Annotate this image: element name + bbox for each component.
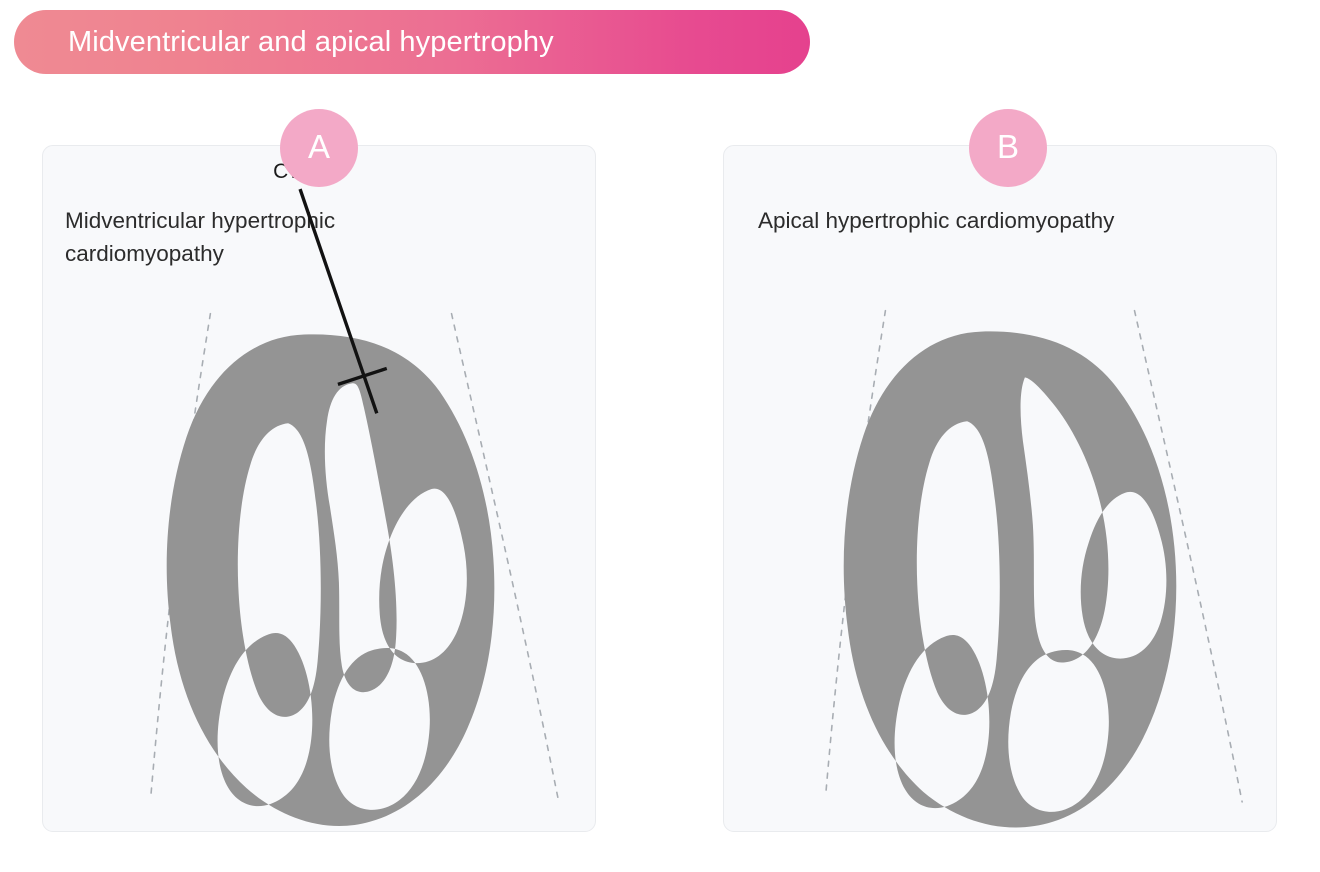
guide-line-left — [151, 314, 211, 799]
apical-hcm-heart-cross-section — [724, 146, 1276, 831]
page-title-banner: Midventricular and apical hypertrophy — [14, 10, 810, 74]
panel-b-badge: B — [969, 109, 1047, 187]
page-title: Midventricular and apical hypertrophy — [14, 26, 554, 59]
panel-a-badge: A — [280, 109, 358, 187]
panel-b-badge-letter: B — [997, 130, 1019, 166]
guide-line-right — [452, 314, 560, 804]
myocardium-shape — [167, 334, 495, 826]
guide-line-right — [1135, 311, 1243, 802]
panel-b-caption: Apical hypertrophic cardiomyopathy — [758, 204, 1258, 237]
panel-a-badge-letter: A — [308, 130, 330, 166]
panel-a-caption: Midventricular hypertrophic cardiomyopat… — [65, 204, 485, 270]
guide-line-left — [826, 311, 886, 796]
panel-apical-hcm: Apical hypertrophic cardiomyopathy — [723, 145, 1277, 832]
cw-measurement-tick — [338, 368, 387, 384]
panel-midventricular-hcm: Midventricular hypertrophic cardiomyopat… — [42, 145, 596, 832]
myocardium-shape — [844, 331, 1177, 827]
